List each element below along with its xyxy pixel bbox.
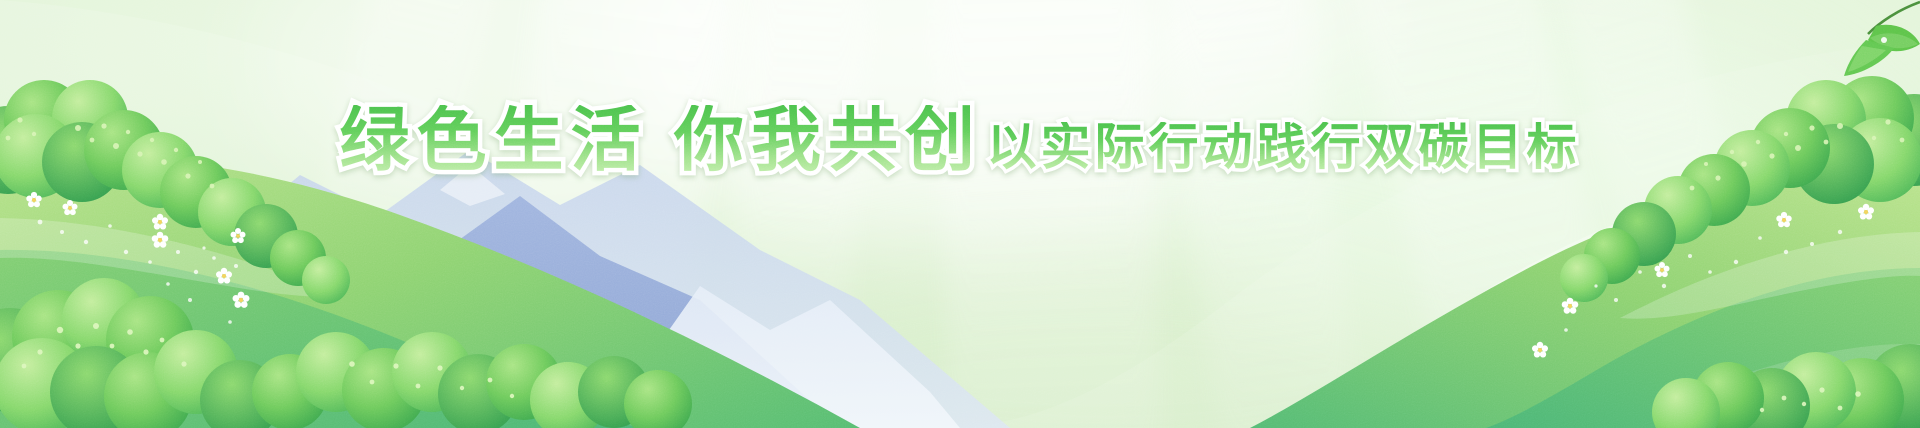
banner-subtitle: 以实际行动践行双碳目标	[986, 122, 1580, 172]
scenery-illustration	[0, 0, 1920, 428]
eco-campaign-banner: 绿色生活 你我共创 以实际行动践行双碳目标	[0, 0, 1920, 428]
leaf-sprig-decoration	[1844, 2, 1920, 76]
scenery-svg	[0, 0, 1920, 428]
bush	[302, 256, 350, 304]
banner-text-block: 绿色生活 你我共创 以实际行动践行双碳目标	[0, 104, 1920, 175]
bush	[1560, 254, 1608, 302]
dew-drop	[1881, 37, 1887, 43]
banner-title: 绿色生活 你我共创	[340, 105, 982, 175]
